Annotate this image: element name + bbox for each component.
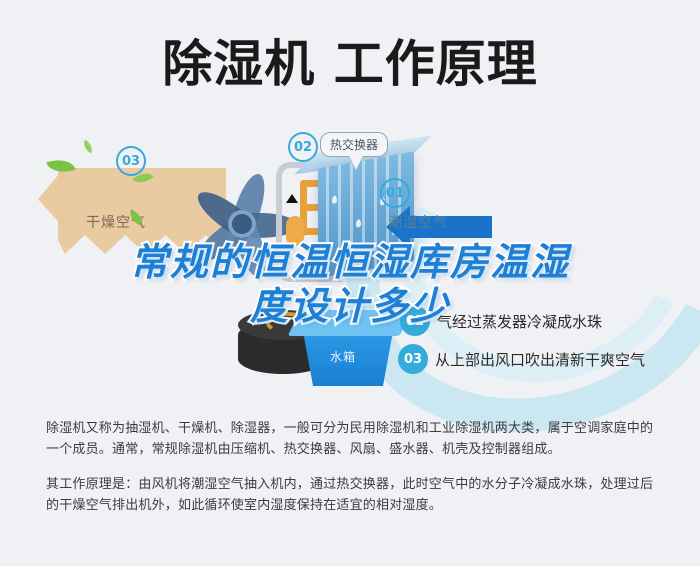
step-line-02: 02 气经过蒸发器冷凝成水珠 bbox=[400, 306, 602, 336]
step-badge-03-left: 03 bbox=[116, 146, 146, 176]
step-badge-02-right: 02 bbox=[400, 306, 430, 336]
body-paragraph-1: 除湿机又称为抽湿机、干燥机、除湿器，一般可分为民用除湿机和工业除湿机两大类，属于… bbox=[46, 418, 658, 460]
step-badge-02: 02 bbox=[288, 132, 318, 162]
body-paragraph-2: 其工作原理是：由风机将潮湿空气抽入机内，通过热交换器，此时空气中的水分子冷凝成水… bbox=[46, 474, 658, 516]
water-tank-top-icon bbox=[288, 310, 413, 336]
flow-arrow-up-icon bbox=[286, 194, 298, 203]
water-tank-label: 水箱 bbox=[330, 348, 356, 365]
step-text-03: 从上部出风口吹出清新干爽空气 bbox=[435, 349, 645, 370]
step-line-03: 03 从上部出风口吹出清新干爽空气 bbox=[398, 344, 645, 374]
accumulator-icon bbox=[286, 216, 304, 246]
step-text-02: 气经过蒸发器冷凝成水珠 bbox=[437, 311, 602, 332]
leaf-icon bbox=[81, 140, 96, 154]
humid-air-label: 潮湿空气 bbox=[388, 212, 448, 232]
dehumidifier-diagram: 干燥空气 bbox=[0, 120, 700, 400]
step-badge-03-right: 03 bbox=[398, 344, 428, 374]
infographic-page: 除湿机 工作原理 干燥空气 bbox=[0, 0, 700, 566]
step-badge-01: 01 bbox=[380, 178, 410, 208]
page-title: 除湿机 工作原理 bbox=[162, 24, 537, 96]
body-text-block: 除湿机又称为抽湿机、干燥机、除湿器，一般可分为民用除湿机和工业除湿机两大类，属于… bbox=[46, 418, 658, 516]
heat-exchanger-callout: 热交换器 bbox=[320, 132, 388, 157]
